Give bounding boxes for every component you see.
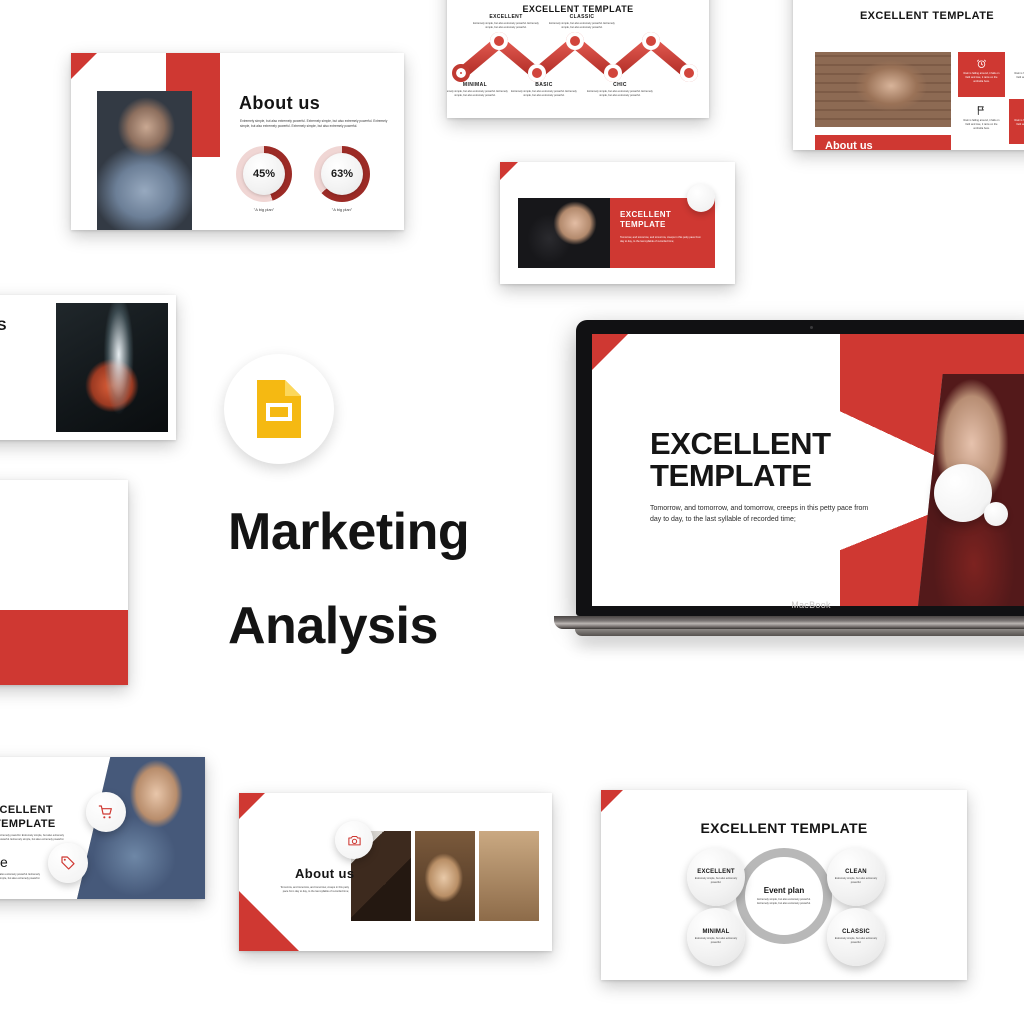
macbook-device-label: MacBook — [576, 600, 1024, 610]
stat-donut: 45% "A big plan" — [236, 146, 292, 202]
stat-donut: 63% "A big plan" — [314, 146, 370, 202]
contents-item[interactable]: Introduction — [0, 345, 36, 354]
wave-node-text: Extremely simple, but also extremely pow… — [473, 22, 539, 30]
event-plan-satellite[interactable]: EXCELLENT Extremely simple, but also ext… — [687, 848, 745, 906]
about-us-photos-slide[interactable]: About us Tomorrow, and tomorrow, and tom… — [239, 793, 552, 951]
about-us-photos-body: Tomorrow, and tomorrow, and tomorrow, cr… — [279, 886, 349, 894]
icon-card[interactable]: Rain is falling around, it falls on fiel… — [958, 52, 1005, 97]
red-panel-body: Tomorrow, and tomorrow, and tomorrow, cr… — [620, 236, 705, 244]
red-block-decoration — [0, 610, 128, 685]
contents-item[interactable]: About us — [0, 420, 36, 429]
stat-donut-value: 45% — [253, 168, 275, 180]
camera-icon-badge[interactable] — [335, 821, 373, 859]
contents-item[interactable]: Product — [0, 370, 36, 379]
satellite-text: Extremely simple, but also extremely pow… — [691, 877, 741, 885]
satellite-label: EXCELLENT — [697, 869, 734, 875]
event-plan-satellite[interactable]: CLASSIC Extremely simple, but also extre… — [827, 908, 885, 966]
icon-card-text: Rain is falling around, it falls on fiel… — [1013, 119, 1024, 131]
wave-node-circle[interactable] — [452, 64, 470, 82]
white-circle-decoration — [687, 184, 715, 212]
wave-node-label: CHIC — [587, 82, 653, 88]
wave-node-label: BASIC — [511, 82, 577, 88]
satellite-label: MINIMAL — [702, 929, 729, 935]
stat-donut-caption: "A big plan" — [236, 207, 292, 213]
google-slides-icon-badge[interactable] — [224, 354, 334, 464]
cart-icon-badge[interactable] — [86, 792, 126, 832]
red-corner-bottom-decoration — [239, 891, 299, 951]
about-us-stats-slide[interactable]: About us Extremely simple, but also extr… — [71, 53, 404, 230]
about-us-red-bar[interactable]: About us — [815, 135, 951, 150]
macbook-foot — [575, 629, 1024, 636]
about-us-photos-title: About us — [295, 866, 355, 881]
part-one-body-bottom: Extremely simple, but also extremely pow… — [0, 873, 40, 881]
shopping-cart-icon — [98, 804, 114, 820]
photo-woman-neon-lamp — [56, 303, 168, 432]
wave-node-text: Extremely simple, but also extremely pow… — [549, 22, 615, 30]
event-plan-satellite[interactable]: MINIMAL Extremely simple, but also extre… — [687, 908, 745, 966]
red-panel-title-line2: TEMPLATE — [620, 220, 705, 230]
wave-node-label: EXCELLENT — [473, 14, 539, 20]
macbook-title-line1: EXCELLENT — [650, 426, 831, 462]
macbook-mockup[interactable]: EXCELLENT TEMPLATE Tomorrow, and tomorro… — [576, 320, 1024, 670]
wave-node-label: CLASSIC — [549, 14, 615, 20]
part-one-title-line2: TEMPLATE — [0, 818, 56, 830]
presentation-mockup-canvas: EXCELLENT TEMPLATE EXCELLENT Extremely s… — [0, 0, 1024, 1024]
satellite-text: Extremely simple, but also extremely pow… — [831, 937, 881, 945]
macbook-title-line2: TEMPLATE — [650, 458, 812, 494]
part-one-body-top: Extremely simple, but also extremely pow… — [0, 834, 64, 842]
red-corner-decoration — [71, 53, 97, 79]
icon-grid-slide[interactable]: EXCELLENT TEMPLATE About us Rain is fall… — [793, 0, 1024, 150]
red-panel-title-line1: EXCELLENT — [620, 210, 705, 220]
google-slides-icon — [251, 378, 307, 440]
photo-woman-denim-jacket — [97, 91, 192, 230]
photo-woman-brick-wall — [815, 52, 951, 127]
photo-woman-hand-raised — [518, 198, 610, 268]
satellite-label: CLASSIC — [842, 929, 870, 935]
wave-node-circle[interactable] — [680, 64, 698, 82]
wave-slide-title: EXCELLENT TEMPLATE — [447, 4, 709, 14]
stat-donut-caption: "A big plan" — [314, 207, 370, 213]
red-corner-decoration — [239, 793, 265, 819]
flag-icon — [976, 105, 987, 116]
icon-card[interactable]: Rain is falling around, it falls on fiel… — [1009, 52, 1024, 97]
wave-node-text: Extremely simple, but also extremely pow… — [511, 90, 577, 98]
part-one-subtitle: Part one — [0, 854, 8, 870]
icon-card-text: Rain is falling around, it falls on fiel… — [962, 119, 1001, 131]
red-corner-decoration — [601, 790, 623, 812]
event-plan-center-label: Event plan — [764, 886, 804, 895]
satellite-text: Extremely simple, but also extremely pow… — [691, 937, 741, 945]
satellite-label: CLEAN — [845, 869, 867, 875]
icon-grid-title: EXCELLENT TEMPLATE — [793, 10, 1024, 22]
about-us-title: About us — [239, 93, 320, 114]
macbook-body: Tomorrow, and tomorrow, and tomorrow, cr… — [650, 504, 880, 526]
red-panel-slide[interactable]: EXCELLENT TEMPLATE Tomorrow, and tomorro… — [500, 162, 735, 284]
satellite-text: Extremely simple, but also extremely pow… — [831, 877, 881, 885]
wave-node-label: MINIMAL — [447, 82, 508, 88]
event-plan-slide[interactable]: EXCELLENT TEMPLATE Event plan Extremely … — [601, 790, 967, 980]
wave-node-text: Extremely simple, but also extremely pow… — [587, 90, 653, 98]
icon-card-text: Rain is falling around, it falls on fiel… — [962, 72, 1001, 84]
photo-red-block-slide[interactable] — [0, 480, 128, 685]
camera-icon — [347, 833, 362, 848]
macbook-base: MacBook — [554, 616, 1024, 629]
icon-card[interactable]: Rain is falling around, it falls on fiel… — [1009, 99, 1024, 144]
macbook-screen[interactable]: EXCELLENT TEMPLATE Tomorrow, and tomorro… — [592, 334, 1024, 606]
red-corner-decoration — [500, 162, 518, 180]
contents-slide[interactable]: CONTENTS Introduction Product Service Ab… — [0, 295, 176, 440]
part-one-slide[interactable]: EXCELLENT TEMPLATE Extremely simple, but… — [0, 757, 205, 899]
event-plan-title: EXCELLENT TEMPLATE — [601, 820, 967, 836]
about-us-label: About us — [825, 140, 873, 150]
wave-node-text: Extremely simple, but also extremely pow… — [447, 90, 508, 98]
part-one-title-line1: EXCELLENT — [0, 804, 53, 816]
event-plan-center[interactable]: Event plan Extremely simple, but also ex… — [750, 862, 818, 930]
photo-hands-writing — [415, 831, 475, 921]
wave-node-circle[interactable] — [642, 32, 660, 50]
page-title-line1: Marketing — [228, 502, 469, 562]
alarm-clock-icon — [976, 58, 987, 69]
icon-card[interactable]: Rain is falling around, it falls on fiel… — [958, 99, 1005, 144]
page-title-line2: Analysis — [228, 596, 438, 656]
price-tag-icon — [60, 855, 76, 871]
wave-node-circle[interactable] — [528, 64, 546, 82]
event-plan-satellite[interactable]: CLEAN Extremely simple, but also extreme… — [827, 848, 885, 906]
contents-item[interactable]: Service — [0, 395, 36, 404]
wave-node-circle[interactable] — [604, 64, 622, 82]
screen-white-circle-small — [984, 502, 1008, 526]
screen-red-corner-tl — [592, 334, 628, 370]
icon-card-text: Rain is falling around, it falls on fiel… — [1013, 72, 1024, 84]
about-us-body: Extremely simple, but also extremely pow… — [240, 119, 392, 129]
contents-title: CONTENTS — [0, 317, 7, 333]
wave-diagram-slide[interactable]: EXCELLENT TEMPLATE EXCELLENT Extremely s… — [447, 0, 709, 118]
event-plan-center-text: Extremely simple, but also extremely pow… — [755, 898, 813, 906]
wave-node-circle[interactable] — [490, 32, 508, 50]
wave-node-circle[interactable] — [566, 32, 584, 50]
tag-icon-badge[interactable] — [48, 843, 88, 883]
stat-donut-value: 63% — [331, 168, 353, 180]
photo-person-laptop — [479, 831, 539, 921]
webcam-dot — [810, 326, 813, 329]
